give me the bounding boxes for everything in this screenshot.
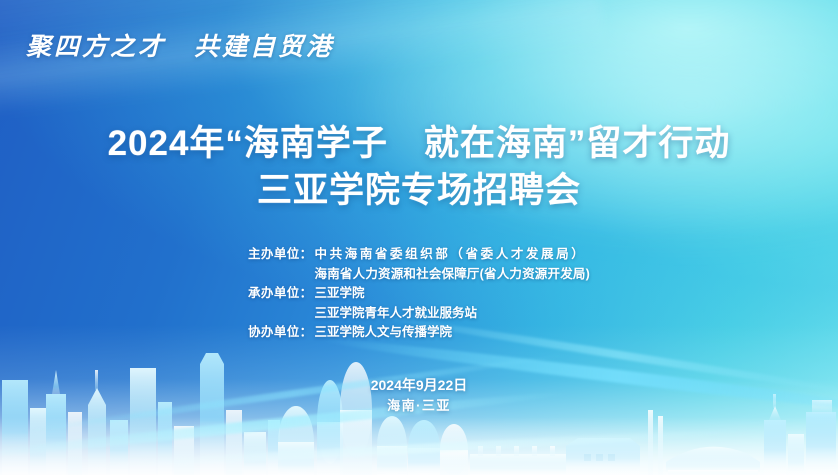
organizer-row: 协办单位： 三亚学院人文与传播学院: [248, 323, 590, 343]
light-sweep-icon: [0, 0, 605, 134]
title-line-1: 2024年“海南学子 就在海南”留才行动: [0, 120, 838, 167]
light-streak-icon: [84, 426, 754, 470]
organizer-label: 承办单位：: [248, 284, 315, 304]
event-place: 海南·三亚: [0, 396, 838, 416]
poster-canvas: 聚四方之才 共建自贸港 2024年“海南学子 就在海南”留才行动 三亚学院专场招…: [0, 0, 838, 475]
organizer-value: 三亚学院: [315, 284, 590, 304]
organizers-block: 主办单位： 中共海南省委组织部（省委人才发展局） 海南省人力资源和社会保障厅(省…: [0, 245, 838, 343]
organizer-label: 主办单位：: [248, 245, 315, 265]
organizer-row: 承办单位： 三亚学院: [248, 284, 590, 304]
organizer-value: 中共海南省委组织部（省委人才发展局）: [315, 245, 590, 265]
slogan-text: 聚四方之才 共建自贸港: [26, 27, 334, 63]
title-line-2: 三亚学院专场招聘会: [0, 167, 838, 214]
bottom-fade-overlay: [0, 417, 838, 475]
organizer-value: 三亚学院人文与传播学院: [315, 323, 590, 343]
organizer-row: 海南省人力资源和社会保障厅(省人力资源开发局): [248, 265, 590, 285]
organizer-row: 主办单位： 中共海南省委组织部（省委人才发展局）: [248, 245, 590, 265]
poster-footer: 2024年9月22日 海南·三亚: [0, 375, 838, 416]
organizer-value: 三亚学院青年人才就业服务站: [315, 304, 590, 324]
organizer-label: 协办单位：: [248, 323, 315, 343]
organizer-value: 海南省人力资源和社会保障厅(省人力资源开发局): [315, 265, 590, 285]
organizer-row: 三亚学院青年人才就业服务站: [248, 304, 590, 324]
organizer-label: [248, 304, 315, 324]
poster-title: 2024年“海南学子 就在海南”留才行动 三亚学院专场招聘会: [0, 120, 838, 214]
organizer-label: [248, 265, 315, 285]
event-date: 2024年9月22日: [0, 375, 838, 396]
